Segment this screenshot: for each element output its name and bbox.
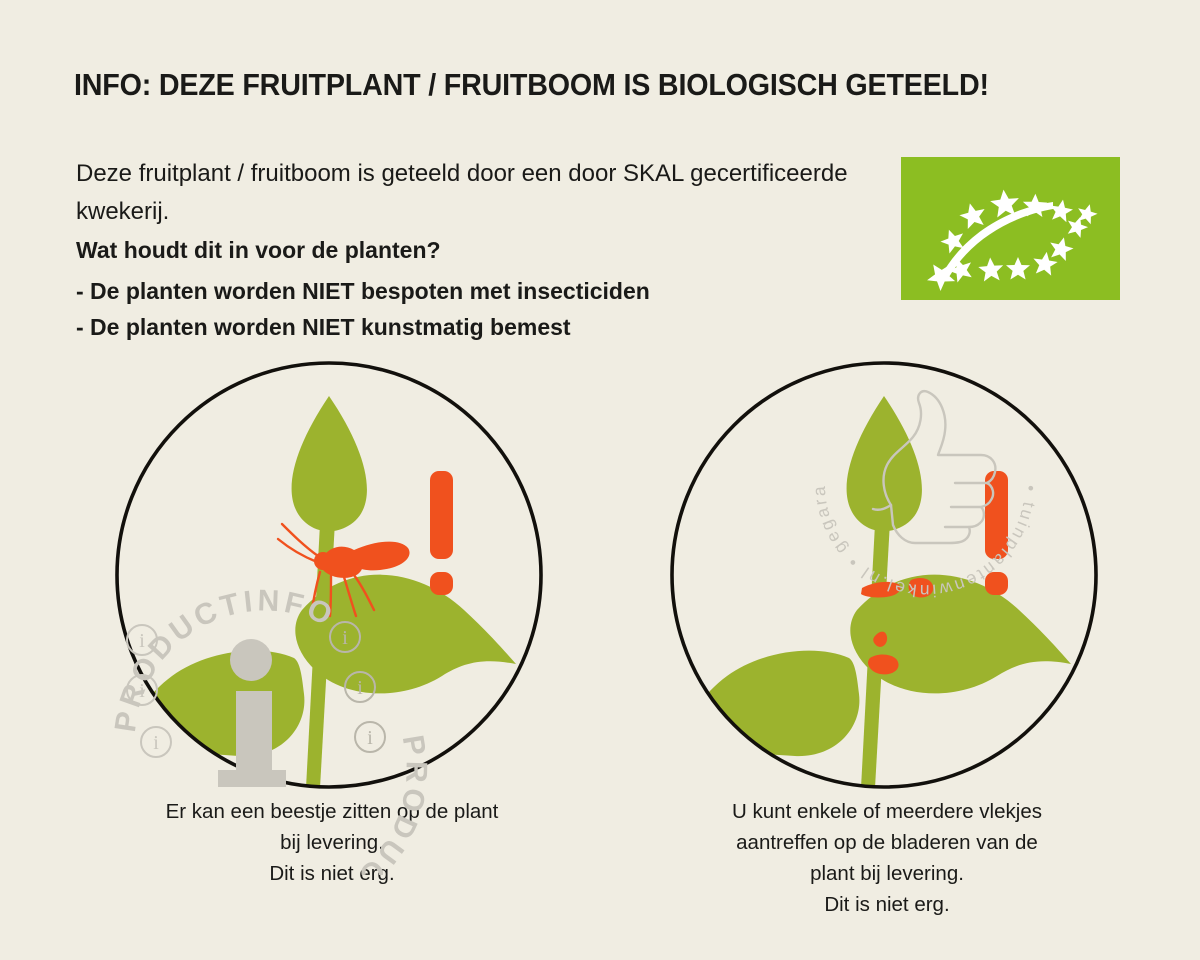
intro-bullet-list: - De planten worden NIET bespoten met in… [76, 273, 896, 345]
exclamation-icon [430, 471, 453, 595]
panel-leaf-spots: U kunt enkele of meerdere vlekjes aantre… [667, 358, 1107, 928]
caption-line: aantreffen op de bladeren van de [667, 827, 1107, 858]
plant-top-leaf [847, 396, 922, 531]
page-title: INFO: DEZE FRUITPLANT / FRUITBOOM IS BIO… [74, 68, 1052, 103]
caption-line: Er kan een beestje zitten op de plant [112, 796, 552, 827]
illustration-circle-right [667, 358, 1101, 792]
caption-line: Dit is niet erg. [667, 889, 1107, 920]
bullet-item-insecticiden: - De planten worden NIET bespoten met in… [76, 273, 896, 309]
caption-line: plant bij levering. [667, 858, 1107, 889]
bullet-item-bemest: - De planten worden NIET kunstmatig beme… [76, 309, 896, 345]
intro-subheading: Wat houdt dit in voor de planten? [76, 237, 876, 264]
info-poster: INFO: DEZE FRUITPLANT / FRUITBOOM IS BIO… [0, 0, 1200, 960]
intro-paragraph: Deze fruitplant / fruitboom is geteeld d… [76, 155, 876, 231]
euroleaf-icon [901, 157, 1120, 300]
exclamation-icon [985, 471, 1008, 595]
leaf-spot [909, 578, 934, 597]
plant-top-leaf [292, 396, 367, 531]
illustration-circle-left [112, 358, 546, 792]
plant-lower-leaf [122, 651, 304, 758]
plant-right-leaf [295, 575, 516, 694]
caption-line: bij levering. [112, 827, 552, 858]
plant-lower-leaf [677, 651, 859, 758]
caption-right: U kunt enkele of meerdere vlekjes aantre… [667, 796, 1107, 920]
panel-insect: Er kan een beestje zitten op de plant bi… [112, 358, 552, 928]
eu-organic-logo [901, 157, 1120, 300]
caption-left: Er kan een beestje zitten op de plant bi… [112, 796, 552, 889]
caption-line: Dit is niet erg. [112, 858, 552, 889]
caption-line: U kunt enkele of meerdere vlekjes [667, 796, 1107, 827]
